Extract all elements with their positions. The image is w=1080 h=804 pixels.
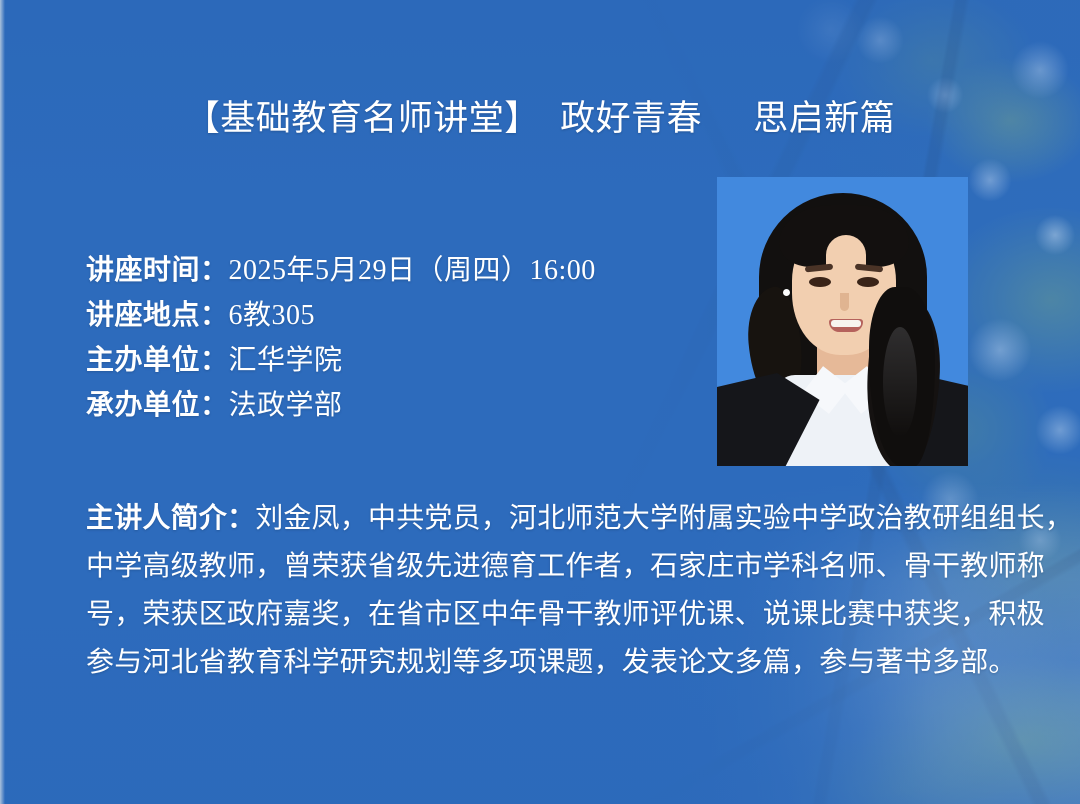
page-title: 【基础教育名师讲堂】 政好青春 思启新篇 [0,96,1080,142]
bio-text-4: 参与河北省教育科学研究规划等多项课题，发表论文多篇，参与著书多部。 [86,647,1017,678]
lecture-info-block: 讲座时间：2025年5月29日（周四）16:00 讲座地点：6教305 主办单位… [86,248,596,428]
info-row-time: 讲座时间：2025年5月29日（周四）16:00 [86,248,596,293]
info-value-location: 6教305 [229,300,316,331]
info-row-organizer: 主办单位：汇华学院 [86,338,596,383]
portrait-mouth [829,319,863,332]
portrait-eye-right [857,277,879,287]
info-label-organizer: 主办单位： [86,345,229,376]
speaker-bio-block: 主讲人简介：刘金凤，中共党员，河北师范大学附属实验中学政治教研组组长， 中学高级… [86,495,1024,687]
info-label-time: 讲座时间： [86,255,229,286]
bio-text-1: 刘金凤，中共党员，河北师范大学附属实验中学政治教研组组长， [255,503,1073,534]
portrait-teeth [831,320,861,327]
info-row-location: 讲座地点：6教305 [86,293,596,338]
info-row-host: 承办单位：法政学部 [86,383,596,428]
portrait-eye-left [809,277,831,287]
bio-line-2: 中学高级教师，曾荣获省级先进德育工作者，石家庄市学科名师、骨干教师称 [86,543,1024,591]
info-label-host: 承办单位： [86,390,229,421]
portrait-earring-left [783,289,790,296]
bio-line-1: 主讲人简介：刘金凤，中共党员，河北师范大学附属实验中学政治教研组组长， [86,495,1024,543]
info-value-host: 法政学部 [229,390,343,421]
bio-line-4: 参与河北省教育科学研究规划等多项课题，发表论文多篇，参与著书多部。 [86,639,1024,687]
bio-text-2: 中学高级教师，曾荣获省级先进德育工作者，石家庄市学科名师、骨干教师称 [86,551,1045,582]
info-value-organizer: 汇华学院 [229,345,343,376]
info-value-time: 2025年5月29日（周四）16:00 [229,255,596,286]
portrait-nose [840,293,849,311]
bio-label: 主讲人简介： [86,503,255,534]
bio-text-3: 号，荣获区政府嘉奖，在省市区中年骨干教师评优课、说课比赛中获奖，积极 [86,599,1045,630]
lecture-poster: 【基础教育名师讲堂】 政好青春 思启新篇 讲座时间：2025年5月29日（周四）… [0,0,1080,804]
portrait-hair-fringe [779,205,909,267]
speaker-portrait-photo [717,177,968,466]
bio-line-3: 号，荣获区政府嘉奖，在省市区中年骨干教师评优课、说课比赛中获奖，积极 [86,591,1024,639]
portrait-hair-highlight [883,327,917,437]
info-label-location: 讲座地点： [86,300,229,331]
